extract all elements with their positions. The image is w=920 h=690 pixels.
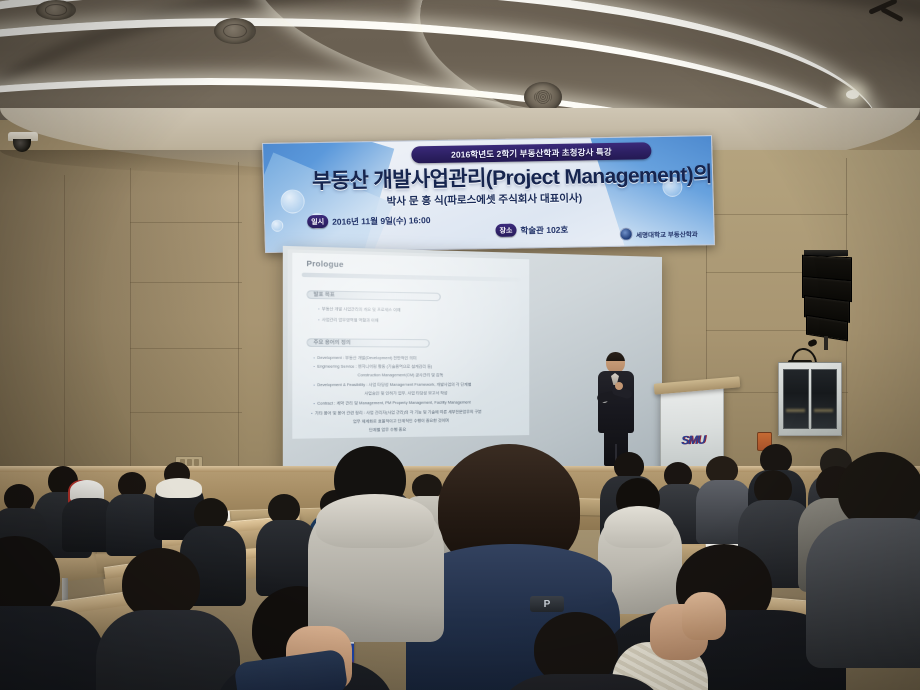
slide-bullet: 부동산 개발 사업관리의 개요 및 프로세스 이해 [318,308,400,313]
banner-place-chip: 장소 [495,224,516,237]
ceiling-mount-bracket [858,0,912,30]
slide-section-1-heading: 발표 목표 [306,290,440,301]
cabinet-glass-door-right [811,369,837,429]
slide-bullet: Contract : 계약 관리 및 Management, PM Proper… [313,401,470,406]
banner-datetime-text: 2016년 11월 9일(수) 16:00 [332,214,431,228]
slide-bullet: Development & Feasibility : 사업 타당성 Manag… [313,384,471,388]
wall-left-shadow [0,150,250,500]
jacket-logo-patch: P [530,596,564,612]
slide-subline: 사업승인 및 인허가 업무, 사업 타당성 보고서 작성 [364,392,447,396]
slide-bullet: 기타 용어 및 용어 관련 정리 : 사업 관리자(사업 관리)의 각 기능 및… [311,411,482,417]
presenter-hand [615,382,623,390]
banner-datetime-chip: 일시 [307,215,328,228]
slide-bullet: Engineering Service : 엔지니어링 활동 (기술용역으로 설… [313,365,432,369]
banner-place: 장소 학술관 102호 [495,223,568,237]
ceiling-speaker-array [802,256,850,338]
presenter-speaker [596,352,636,464]
slide-section-2-heading: 주요 용어의 정의 [306,338,429,347]
presentation-slide: Prologue 발표 목표 부동산 개발 사업관리의 개요 및 프로세스 이해… [292,253,529,439]
banner-datetime: 일시 2016년 11월 9일(수) 16:00 [307,213,431,228]
banner-ribbon-text: 2016학년도 2학기 부동산학과 초청강사 특강 [451,145,612,160]
podium-logo: SMU [673,430,713,449]
slide-subline: Construction Management(CM) 공사관리 및 감독 [358,374,444,378]
av-equipment-cabinet [778,362,842,436]
presenter-head [606,352,625,373]
dome-security-camera [8,132,38,148]
slide-bullet: Development : 부동산 개발(Development) 전반적인 의… [313,357,416,361]
podium-logo-text: SMU [681,433,705,448]
banner-place-text: 학술관 102호 [520,223,568,236]
lecture-hall-photo: 2016학년도 2학기 부동산학과 초청강사 특강 부동산 개발사업관리(Pro… [0,0,920,690]
slide-subline: 업무 체계화로 효율적이고 단계적인 수행이 중요한 것이며 [353,419,449,424]
ceiling-vent [214,18,256,44]
speaker-mount [824,336,828,350]
gooseneck-microphone [788,338,818,364]
ceiling-vent [36,0,76,20]
slide-subline: 단계별 업무 수행 중요 [369,428,406,432]
hand-gesture [682,592,726,640]
slide-bullet: 사업관리 업무영역별 역할과 이해 [318,319,378,324]
slide-title-rule [302,273,521,282]
cabinet-glass-door-left [783,369,809,429]
banner-university: 세명대학교 부동산학과 [620,226,698,240]
slide-title: Prologue [306,261,343,270]
event-banner: 2016학년도 2학기 부동산학과 초청강사 특강 부동산 개발사업관리(Pro… [262,135,715,253]
banner-university-text: 세명대학교 부동산학과 [636,228,698,239]
university-logo-icon [620,228,633,241]
